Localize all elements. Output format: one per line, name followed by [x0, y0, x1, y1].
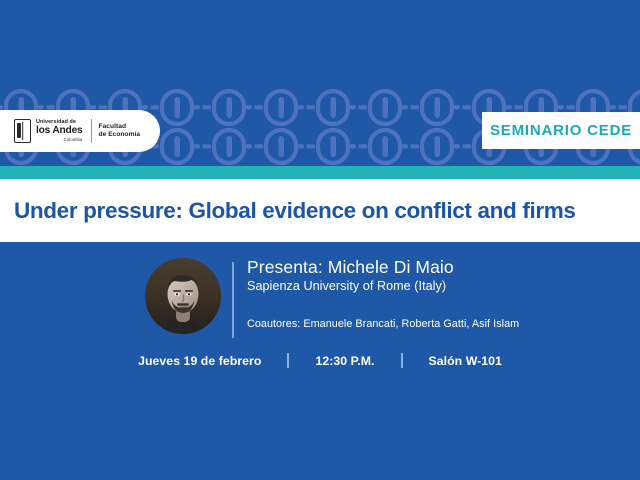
logo-divider	[91, 119, 92, 143]
university-wordmark: Universidad de los Andes Colombia	[36, 120, 83, 141]
event-room: Salón W-101	[429, 354, 502, 368]
speaker-divider	[232, 262, 234, 338]
university-logo-plate: Universidad de los Andes Colombia Facult…	[0, 110, 160, 152]
seminar-poster: Universidad de los Andes Colombia Facult…	[0, 0, 640, 480]
seminar-badge-label: SEMINARIO CEDE	[490, 122, 632, 139]
title-band: Under pressure: Global evidence on confl…	[0, 179, 640, 242]
university-line-3: Colombia	[36, 138, 83, 142]
uniandes-book-mark-icon	[14, 119, 31, 143]
coauthors-line: Coautores: Emanuele Brancati, Roberta Ga…	[247, 318, 519, 330]
university-line-2: los Andes	[36, 126, 83, 136]
presenter-name: Presenta: Michele Di Maio	[247, 258, 454, 277]
event-meta-line: Jueves 19 de febrero 12:30 P.M. Salón W-…	[0, 353, 640, 368]
teal-accent-rule	[0, 166, 640, 179]
faculty-name: Facultad de Economía	[99, 123, 141, 139]
speaker-text-group: Presenta: Michele Di Maio Sapienza Unive…	[247, 258, 454, 294]
portrait-photo	[145, 258, 221, 334]
event-time: 12:30 P.M.	[315, 354, 374, 368]
speaker-block: Presenta: Michele Di Maio Sapienza Unive…	[0, 250, 640, 350]
meta-separator-1	[287, 353, 289, 368]
presenter-affiliation: Sapienza University of Rome (Italy)	[247, 279, 454, 293]
speaker-portrait	[145, 258, 221, 334]
faculty-line-1: Facultad	[99, 123, 141, 131]
page-title: Under pressure: Global evidence on confl…	[0, 198, 576, 224]
meta-separator-2	[401, 353, 403, 368]
event-date: Jueves 19 de febrero	[138, 354, 261, 368]
faculty-line-2: de Economía	[99, 131, 141, 139]
seminar-badge: SEMINARIO CEDE	[482, 112, 640, 149]
